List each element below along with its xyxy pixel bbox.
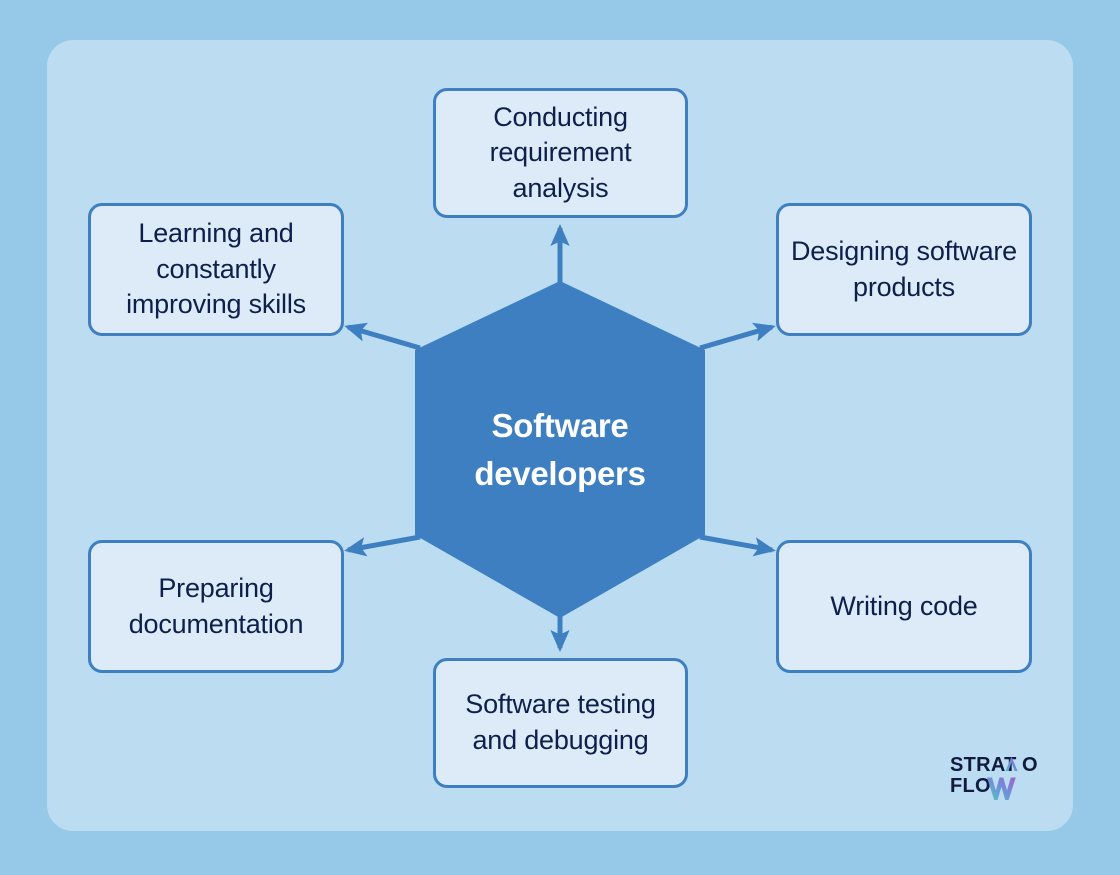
center-hexagon bbox=[415, 281, 705, 618]
node-preparing-documentation[interactable]: Preparing documentation bbox=[88, 540, 344, 673]
diagram-canvas: Software developers Conducting requireme… bbox=[0, 0, 1120, 875]
logo-line-1-o: O bbox=[1022, 754, 1038, 776]
node-label: Learning and constantly improving skills bbox=[101, 216, 331, 323]
arrow-to-right-top bbox=[700, 327, 772, 348]
logo-line-1-text: STRAT bbox=[950, 754, 1017, 776]
logo-line-2-text: FLO bbox=[950, 775, 991, 797]
node-writing-code[interactable]: Writing code bbox=[776, 540, 1032, 673]
node-designing-software-products[interactable]: Designing software products bbox=[776, 203, 1032, 336]
arrow-to-left-top bbox=[348, 327, 420, 348]
arrow-to-right-bottom bbox=[700, 537, 772, 550]
node-conducting-requirement-analysis[interactable]: Conducting requirement analysis bbox=[433, 88, 688, 218]
node-software-testing-and-debugging[interactable]: Software testing and debugging bbox=[433, 658, 688, 788]
node-label: Software testing and debugging bbox=[446, 687, 675, 758]
node-label: Conducting requirement analysis bbox=[446, 100, 675, 207]
logo-accent-w bbox=[987, 778, 1016, 801]
arrow-to-left-bottom bbox=[348, 537, 420, 550]
node-learning-and-constantly-improving-skills[interactable]: Learning and constantly improving skills bbox=[88, 203, 344, 336]
node-label: Preparing documentation bbox=[101, 571, 331, 642]
node-label: Writing code bbox=[830, 589, 977, 625]
stratoflow-logo: STRAT O FLO bbox=[950, 752, 1050, 802]
node-label: Designing software products bbox=[789, 234, 1019, 305]
